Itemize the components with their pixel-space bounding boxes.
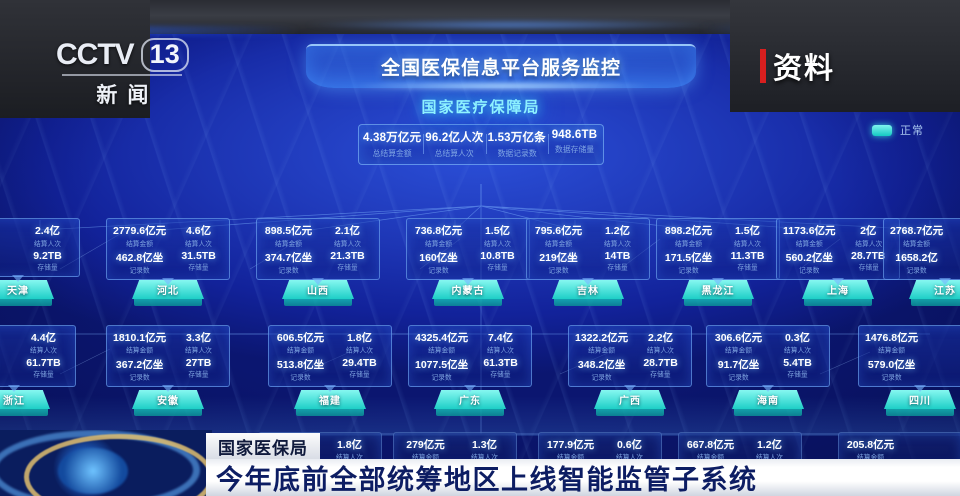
swirl-core	[58, 448, 128, 494]
province-node-label: 海南	[732, 390, 804, 416]
card-metric: 2768.7亿元结算金额	[890, 223, 943, 249]
province-card[interactable]: 2.4亿结算人次9.2TB存储量	[0, 218, 80, 277]
card-metric-label: 存储量	[725, 263, 771, 273]
central-metric: 1.53万亿条 数据记录数	[486, 129, 548, 159]
card-pointer	[762, 385, 774, 392]
card-pointer	[832, 278, 844, 285]
central-node[interactable]: 国家医疗保障局 4.38万亿元 总结算金额 96.2亿人次 总结算人次 1.53…	[358, 96, 604, 165]
card-metric-value: 374.7亿坐	[263, 250, 314, 265]
node-icon	[872, 125, 892, 136]
card-metric: 306.6亿元结算金额	[713, 330, 764, 356]
card-metric-value: 2.2亿	[636, 330, 685, 345]
central-metrics-panel: 4.38万亿元 总结算金额 96.2亿人次 总结算人次 1.53万亿条 数据记录…	[358, 124, 604, 165]
card-metric-value: 4.6亿	[174, 223, 223, 238]
cctv-logo-row: CCTV 13	[56, 38, 189, 72]
province-node-浙江[interactable]: 浙江	[0, 390, 50, 416]
card-metric-value: 1658.2亿	[890, 250, 943, 265]
card-metric-label: 结算金额	[0, 346, 7, 356]
card-metric-value: 1.2亿	[592, 223, 643, 238]
card-metric-label: 记录数	[418, 373, 466, 383]
card-metric-value: 31.5TB	[174, 250, 223, 262]
card-metric-value: 160亿坐	[413, 250, 464, 265]
card-metric-value: 560.2亿坐	[783, 250, 836, 265]
metric-value: 4.38万亿元	[363, 129, 421, 145]
source-badge-bar	[760, 49, 766, 83]
province-node-江苏[interactable]: 江苏	[909, 280, 960, 306]
card-metric-value: 2779.6亿元	[113, 223, 166, 238]
card-metric-label: 存储量	[639, 370, 683, 380]
card-metric-label: 结算金额	[868, 346, 916, 356]
province-card[interactable]: 2779.6亿元结算金额4.6亿结算人次462.8亿坐记录数31.5TB存储量	[106, 218, 230, 280]
province-card[interactable]: 1322.2亿元结算金额2.2亿结算人次348.2亿坐记录数28.7TB存储量	[568, 325, 692, 387]
card-metric-label: 存储量	[25, 263, 71, 273]
province-node-安徽[interactable]: 安徽	[132, 390, 204, 416]
card-metric-label: 存储量	[595, 263, 641, 273]
card-metric: 27TB存储量	[174, 357, 223, 383]
central-metric: 96.2亿人次 总结算人次	[423, 129, 485, 159]
card-metric-label: 结算人次	[21, 346, 67, 356]
card-metric-label: 结算金额	[716, 346, 762, 356]
card-metric-label: 结算人次	[775, 346, 821, 356]
card-metric-value: 9.2TB	[22, 250, 73, 262]
card-metric: 1810.1亿元结算金额	[113, 330, 166, 356]
card-metric-value: 5.4TB	[772, 357, 823, 369]
card-metric-label: 存储量	[325, 263, 371, 273]
card-metric: 1.2亿结算人次	[592, 223, 643, 249]
card-metric-label: 结算金额	[578, 346, 626, 356]
card-metric: 160亿坐记录数	[413, 250, 464, 276]
card-metric-value: 10.8TB	[472, 250, 523, 262]
card-metric-label: 存储量	[475, 263, 521, 273]
card-metric-label: 存储量	[479, 370, 523, 380]
card-metric-value: 1173.6亿元	[783, 223, 836, 238]
card-metric-label: 存储量	[177, 263, 221, 273]
card-metric-value: 579.0亿坐	[865, 357, 918, 372]
card-pointer	[162, 278, 174, 285]
central-node-title: 国家医疗保障局	[358, 96, 604, 117]
card-metric-label: 结算金额	[416, 239, 462, 249]
card-metric-label: 结算人次	[25, 239, 71, 249]
card-metric: 171.5亿坐记录数	[663, 250, 714, 276]
province-node-海南[interactable]: 海南	[732, 390, 804, 416]
card-pointer	[324, 385, 336, 392]
card-metric-label: 结算金额	[893, 239, 941, 249]
card-metric: 28.7TB存储量	[636, 357, 685, 383]
status-legend: 正常	[872, 122, 924, 138]
card-metric: 31.5TB存储量	[174, 250, 223, 276]
headline-bar: 今年底前全部统筹地区上线智能监管子系统	[206, 459, 960, 496]
card-pointer	[939, 278, 951, 285]
card-metric: 606.5亿元结算金额	[275, 330, 326, 356]
legend-label: 正常	[900, 122, 924, 138]
card-pointer	[712, 278, 724, 285]
card-metric-value: 91.7亿坐	[713, 357, 764, 372]
card-metric: 91.7亿坐记录数	[713, 357, 764, 383]
card-metric	[926, 357, 960, 383]
province-node-label: 广西	[594, 390, 666, 416]
province-node-label: 安徽	[132, 390, 204, 416]
card-metric-value: 亿元	[0, 330, 10, 345]
card-metric-value: 3.3亿	[174, 330, 223, 345]
province-node-label: 四川	[884, 390, 956, 416]
card-metric-label: 记录数	[893, 266, 941, 276]
card-metric: 2.1亿结算人次	[322, 223, 373, 249]
card-metric: 61.7TB存储量	[18, 357, 69, 383]
province-card[interactable]: 亿元结算金额4.4亿结算人次亿坐记录数61.7TB存储量	[0, 325, 76, 387]
card-metric-label: 结算金额	[666, 239, 712, 249]
card-metric: 4.6亿结算人次	[174, 223, 223, 249]
card-metric: 2.4亿结算人次	[22, 223, 73, 249]
card-metric-value: 61.7TB	[18, 357, 69, 369]
card-metric-value: 1077.5亿坐	[415, 357, 468, 372]
card-metric: 736.8亿元结算金额	[413, 223, 464, 249]
card-metric: 11.3TB存储量	[722, 250, 773, 276]
central-metric: 948.6TB 数据存储量	[548, 129, 601, 159]
card-metric	[951, 223, 960, 249]
card-pointer	[582, 278, 594, 285]
card-pointer	[8, 385, 20, 392]
card-metric-value: 2.4亿	[22, 223, 73, 238]
metric-value: 1.53万亿条	[488, 129, 546, 145]
card-metric-label: 结算人次	[639, 346, 683, 356]
metric-label: 总结算金额	[365, 147, 419, 158]
card-metric-label: 结算人次	[177, 346, 221, 356]
card-metric-value: 4325.4亿元	[415, 330, 468, 345]
card-metric-value: 1.5亿	[722, 223, 773, 238]
card-pointer	[462, 278, 474, 285]
card-metric: 1322.2亿元结算金额	[575, 330, 628, 356]
card-metric: 亿元结算金额	[0, 330, 10, 356]
card-metric-value: 348.2亿坐	[575, 357, 628, 372]
card-metric-label: 结算金额	[116, 346, 164, 356]
card-metric-label: 记录数	[266, 266, 312, 276]
card-metric: 2779.6亿元结算金额	[113, 223, 166, 249]
card-metric: 560.2亿坐记录数	[783, 250, 836, 276]
card-metric-value: 11.3TB	[722, 250, 773, 262]
cctv-channel-number: 13	[141, 38, 189, 71]
province-node-label: 福建	[294, 390, 366, 416]
card-metric-label: 结算金额	[278, 346, 324, 356]
card-metric: 5.4TB存储量	[772, 357, 823, 383]
headline-text: 今年底前全部统筹地区上线智能监管子系统	[206, 458, 758, 496]
card-metric-label: 结算人次	[475, 239, 521, 249]
card-metric: 2.2亿结算人次	[636, 330, 685, 356]
province-node-广东[interactable]: 广东	[434, 390, 506, 416]
card-metric-value: 898.2亿元	[663, 223, 714, 238]
province-card[interactable]: 898.5亿元结算金额2.1亿结算人次374.7亿坐记录数21.3TB存储量	[256, 218, 380, 280]
metric-label: 数据存储量	[552, 143, 597, 154]
card-metric-value: 61.3TB	[476, 357, 525, 369]
dashboard-title: 全国医保信息平台服务监控	[306, 44, 696, 88]
card-metric: 14TB存储量	[592, 250, 643, 276]
card-metric-value: 1.5亿	[472, 223, 523, 238]
card-metric-label: 记录数	[716, 373, 762, 383]
province-node-广西[interactable]: 广西	[594, 390, 666, 416]
card-metric: 219亿坐记录数	[533, 250, 584, 276]
card-pointer	[312, 278, 324, 285]
card-metric-label: 结算人次	[479, 346, 523, 356]
card-metric-value: 29.4TB	[334, 357, 385, 369]
card-metric: 7.4亿结算人次	[476, 330, 525, 356]
province-node-四川[interactable]: 四川	[884, 390, 956, 416]
card-metric: 898.5亿元结算金额	[263, 223, 314, 249]
card-metric-label: 记录数	[786, 266, 833, 276]
province-card[interactable]: 736.8亿元结算金额1.5亿结算人次160亿坐记录数10.8TB存储量	[406, 218, 530, 280]
card-metric-label: 存储量	[337, 370, 383, 380]
card-metric-label: 结算金额	[786, 239, 833, 249]
province-card[interactable]: 606.5亿元结算金额1.8亿结算人次513.8亿坐记录数29.4TB存储量	[268, 325, 392, 387]
source-badge-label: 资料	[773, 45, 835, 87]
card-metric	[0, 250, 14, 273]
card-metric: 795.6亿元结算金额	[533, 223, 584, 249]
bezel-glow-center	[300, 20, 720, 30]
card-metric: 亿坐记录数	[0, 357, 10, 383]
cctv-channel-name: CCTV	[56, 38, 134, 72]
card-metric-label: 结算金额	[266, 239, 312, 249]
card-metric-label: 存储量	[21, 370, 67, 380]
province-card[interactable]: 795.6亿元结算金额1.2亿结算人次219亿坐记录数14TB存储量	[526, 218, 650, 280]
province-card[interactable]: 4325.4亿元结算金额7.4亿结算人次1077.5亿坐记录数61.3TB存储量	[408, 325, 532, 387]
province-node-label: 江苏	[909, 280, 960, 306]
metric-label: 数据记录数	[490, 147, 544, 158]
province-node-label: 广东	[434, 390, 506, 416]
card-metric: 4.4亿结算人次	[18, 330, 69, 356]
card-metric-value: 27TB	[174, 357, 223, 369]
card-metric: 462.8亿坐记录数	[113, 250, 166, 276]
card-metric-value: 513.8亿坐	[275, 357, 326, 372]
card-metric	[926, 330, 960, 356]
card-metric-value: 2768.7亿元	[890, 223, 943, 238]
card-metric-label: 结算人次	[725, 239, 771, 249]
card-metric: 21.3TB存储量	[322, 250, 373, 276]
card-metric-label: 结算人次	[337, 346, 383, 356]
card-metric-value: 1810.1亿元	[113, 330, 166, 345]
province-card[interactable]: 1810.1亿元结算金额3.3亿结算人次367.2亿坐记录数27TB存储量	[106, 325, 230, 387]
card-pointer	[464, 385, 476, 392]
card-metric-value: 795.6亿元	[533, 223, 584, 238]
card-pointer	[12, 275, 24, 282]
card-metric: 1.8亿结算人次	[334, 330, 385, 356]
card-metric: 3.3亿结算人次	[174, 330, 223, 356]
broadcast-screen: CCTV 13 新闻 资料 全国医保信息平台服务监控 正常 国家医疗保障局 4.…	[0, 0, 960, 496]
card-metric: 367.2亿坐记录数	[113, 357, 166, 383]
card-metric: 1476.8亿元结算金额	[865, 330, 918, 356]
source-badge: 资料	[760, 45, 835, 87]
card-metric: 1.5亿结算人次	[722, 223, 773, 249]
card-metric	[951, 250, 960, 276]
card-metric-value: 21.3TB	[322, 250, 373, 262]
card-metric-value: 1476.8亿元	[865, 330, 918, 345]
card-metric-label: 记录数	[0, 373, 7, 383]
province-node-label: 浙江	[0, 390, 50, 416]
card-metric-value: 736.8亿元	[413, 223, 464, 238]
card-metric-label: 结算人次	[595, 239, 641, 249]
card-metric-label: 记录数	[536, 266, 582, 276]
cctv-channel-sub: 新闻	[56, 79, 189, 109]
card-metric: 348.2亿坐记录数	[575, 357, 628, 383]
card-metric-value: 219亿坐	[533, 250, 584, 265]
card-metric: 1.5亿结算人次	[472, 223, 523, 249]
card-metric-value: 0.3亿	[772, 330, 823, 345]
province-card[interactable]: 898.2亿元结算金额1.5亿结算人次171.5亿坐记录数11.3TB存储量	[656, 218, 780, 280]
province-node-福建[interactable]: 福建	[294, 390, 366, 416]
card-metric-label: 记录数	[278, 373, 324, 383]
card-metric-value: 462.8亿坐	[113, 250, 166, 265]
card-metric-value: 898.5亿元	[263, 223, 314, 238]
card-metric-label: 记录数	[116, 266, 164, 276]
card-pointer	[162, 385, 174, 392]
card-metric: 1173.6亿元结算金额	[783, 223, 836, 249]
card-metric-value: 306.6亿元	[713, 330, 764, 345]
card-metric-label: 记录数	[666, 266, 712, 276]
card-metric-label: 存储量	[177, 370, 221, 380]
card-metric: 1658.2亿记录数	[890, 250, 943, 276]
card-metric: 898.2亿元结算金额	[663, 223, 714, 249]
dashboard-title-plaque: 全国医保信息平台服务监控	[306, 44, 696, 88]
card-metric-value: 28.7TB	[636, 357, 685, 369]
card-metric: 0.3亿结算人次	[772, 330, 823, 356]
card-metric-value: 606.5亿元	[275, 330, 326, 345]
card-metric-value: 4.4亿	[18, 330, 69, 345]
card-metric	[0, 223, 14, 249]
card-metric: 1077.5亿坐记录数	[415, 357, 468, 383]
card-metric: 9.2TB存储量	[22, 250, 73, 273]
card-metric-value: 2.1亿	[322, 223, 373, 238]
card-metric-label: 存储量	[775, 370, 821, 380]
card-metric-label: 结算人次	[325, 239, 371, 249]
card-metric-label: 结算人次	[177, 239, 221, 249]
card-metric-label: 结算金额	[418, 346, 466, 356]
metric-value: 948.6TB	[550, 129, 599, 141]
metric-value: 96.2亿人次	[425, 129, 483, 145]
agency-tag: 国家医保局	[206, 433, 320, 459]
card-metric: 374.7亿坐记录数	[263, 250, 314, 276]
province-card[interactable]: 1173.6亿元结算金额2亿结算人次560.2亿坐记录数28.7TB存储量	[776, 218, 900, 280]
card-metric-value: 1322.2亿元	[575, 330, 628, 345]
province-card[interactable]: 1476.8亿元结算金额579.0亿坐记录数	[858, 325, 960, 387]
lower-third: 国家医保局 今年底前全部统筹地区上线智能监管子系统	[0, 430, 960, 496]
card-metric-value: 7.4亿	[476, 330, 525, 345]
card-metric-value: 171.5亿坐	[663, 250, 714, 265]
card-metric-value: 1.8亿	[334, 330, 385, 345]
card-metric: 579.0亿坐记录数	[865, 357, 918, 383]
province-card[interactable]: 2768.7亿元结算金额1658.2亿记录数	[883, 218, 960, 280]
card-metric-value: 367.2亿坐	[113, 357, 166, 372]
metric-label: 总结算人次	[428, 147, 482, 158]
cctv-logo: CCTV 13 新闻	[56, 38, 189, 109]
province-card[interactable]: 306.6亿元结算金额0.3亿结算人次91.7亿坐记录数5.4TB存储量	[706, 325, 830, 387]
card-metric: 4325.4亿元结算金额	[415, 330, 468, 356]
card-pointer	[624, 385, 636, 392]
card-metric-value: 14TB	[592, 250, 643, 262]
card-metric: 61.3TB存储量	[476, 357, 525, 383]
card-metric-label: 结算金额	[536, 239, 582, 249]
card-metric-label: 结算金额	[116, 239, 164, 249]
card-metric: 10.8TB存储量	[472, 250, 523, 276]
card-metric: 513.8亿坐记录数	[275, 357, 326, 383]
card-pointer	[914, 385, 926, 392]
card-metric-label: 记录数	[868, 373, 916, 383]
card-metric: 29.4TB存储量	[334, 357, 385, 383]
cctv-underline	[62, 74, 182, 76]
card-metric-label: 记录数	[416, 266, 462, 276]
card-metric-value: 亿坐	[0, 357, 10, 372]
card-metric-label: 记录数	[578, 373, 626, 383]
central-metric: 4.38万亿元 总结算金额	[361, 129, 423, 159]
province-node-天津[interactable]: 天津	[0, 280, 54, 306]
lower-third-graphic	[0, 430, 212, 496]
province-node-label: 天津	[0, 280, 54, 306]
card-metric-label: 记录数	[116, 373, 164, 383]
